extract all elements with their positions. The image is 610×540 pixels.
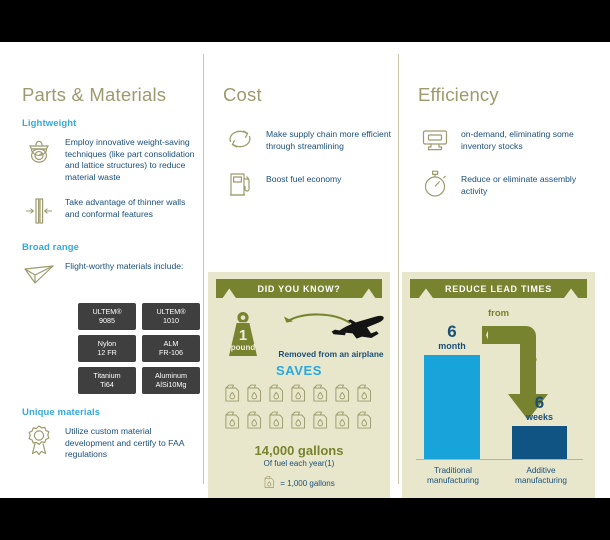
parts-materials-title: Parts & Materials [22,84,197,106]
material-chip: ULTEM® 9085 [78,303,136,330]
group-label-lightweight: Lightweight [22,118,197,129]
bar-label-traditional: Traditional manufacturing [414,466,492,487]
did-you-know-header-row: 1 pound Removed from an airplane [208,298,390,360]
curved-arrow-icon [272,310,390,346]
fuel-jug-icon [267,410,288,435]
additive-value-number: 6 [512,394,567,411]
infographic-canvas: Parts & Materials Lightweight Emp [0,42,610,498]
stopwatch-icon [418,167,452,201]
chip-line2: AlSi10Mg [143,380,199,389]
fuel-jug-icon [289,410,310,435]
saves-label: SAVES [208,363,390,378]
fuel-jug-icon [223,383,244,408]
efficiency-title: Efficiency [418,84,598,106]
fuel-jug-grid [208,383,390,435]
printer-icon [418,122,452,156]
chip-line1: Aluminum [155,371,187,380]
additive-bar-value: 6 weeks [512,394,567,423]
bullet-on-demand-text: on-demand, eliminating some inventory st… [461,122,598,152]
award-ribbon-icon [22,423,56,457]
additive-value-unit: weeks [512,412,567,423]
bar-label-additive: Additive manufacturing [502,466,580,487]
reduce-lead-times-ribbon: REDUCE LEAD TIMES [410,279,587,298]
traditional-value-number: 6 [424,323,480,340]
did-you-know-panel: DID YOU KNOW? 1 pound [208,272,390,498]
bullet-supply-chain-text: Make supply chain more efficient through… [266,122,392,152]
weight-value: 1 [218,328,268,343]
reduce-lead-times-panel: REDUCE LEAD TIMES from to 6 month 6 wee [402,272,595,498]
traditional-value-unit: month [424,341,480,352]
chip-line1: Titanium [93,371,120,380]
bullet-flight-worthy: Flight-worthy materials include: [22,258,197,292]
bullet-custom-material-text: Utilize custom material development and … [65,423,197,461]
material-chip: Titanium Ti64 [78,367,136,394]
infographic-stage: Parts & Materials Lightweight Emp [0,0,610,540]
airplane-silhouette [332,316,384,339]
fuel-jug-icon [333,383,354,408]
chip-line1: ALM [164,339,179,348]
letterbox-top [0,0,610,42]
cycle-arrows-icon [223,122,257,156]
fuel-jug-icon [311,383,332,408]
group-label-unique-materials: Unique materials [22,407,197,418]
fuel-jug-icon [245,383,266,408]
chip-line2: 1010 [143,316,199,325]
bullet-assembly-activity-text: Reduce or eliminate assembly activity [461,167,598,197]
fuel-jug-icon [355,383,376,408]
airplane-callout: Removed from an airplane [272,308,390,360]
bar-additive-manufacturing [512,426,567,459]
column-parts-materials: Parts & Materials Lightweight Emp [0,42,205,498]
bullet-on-demand: on-demand, eliminating some inventory st… [418,122,598,156]
material-chip: Nylon 12 FR [78,335,136,362]
bullet-supply-chain: Make supply chain more efficient through… [223,122,392,156]
group-label-broad-range: Broad range [22,242,197,253]
chip-line2: FR-106 [143,348,199,357]
fuel-jug-icon [289,383,310,408]
from-annotation: from [488,308,509,319]
fuel-jug-icon [245,410,266,435]
fuel-pump-icon [223,167,257,201]
material-chip-grid: ULTEM® 9085 ULTEM® 1010 Nylon 12 FR ALM … [78,303,197,394]
bullet-weight-saving-text: Employ innovative weight-saving techniqu… [65,134,197,183]
chip-line2: 9085 [79,316,135,325]
fuel-jug-icon [355,410,376,435]
bullet-custom-material: Utilize custom material development and … [22,423,197,461]
traditional-bar-value: 6 month [424,323,480,352]
material-chip: ULTEM® 1010 [142,303,200,330]
jug-legend: = 1,000 gallons [208,475,390,491]
weight-unit: pound [218,343,268,352]
material-chip: Aluminum AlSi10Mg [142,367,200,394]
bullet-thin-walls: Take advantage of thinner walls and conf… [22,194,197,228]
bullet-fuel-economy-text: Boost fuel economy [266,167,341,186]
paper-plane-icon [22,258,56,292]
gallons-total: 14,000 gallons [208,443,390,458]
gallons-subtitle: Of fuel each year(1) [208,459,390,468]
thin-wall-icon [22,194,56,228]
one-pound-weight-icon: 1 pound [218,308,268,360]
chart-baseline [416,459,583,460]
fuel-jug-icon [223,410,244,435]
jug-legend-text: = 1,000 gallons [280,479,335,488]
fuel-jug-icon [263,475,276,491]
bullet-weight-saving: Employ innovative weight-saving techniqu… [22,134,197,183]
bullet-flight-worthy-text: Flight-worthy materials include: [65,258,183,273]
removed-from-airplane-text: Removed from an airplane [272,349,390,360]
kitchen-scale-icon [22,134,56,168]
bullet-fuel-economy: Boost fuel economy [223,167,392,201]
chip-line1: ULTEM® [156,307,185,316]
fuel-jug-icon [311,410,332,435]
fuel-jug-icon [267,383,288,408]
bullet-thin-walls-text: Take advantage of thinner walls and conf… [65,194,197,220]
letterbox-bottom [0,498,610,540]
chip-line2: Ti64 [79,380,135,389]
chip-line1: ULTEM® [92,307,121,316]
did-you-know-ribbon: DID YOU KNOW? [216,279,382,298]
fuel-jug-icon [333,410,354,435]
cost-title: Cost [223,84,392,106]
material-chip: ALM FR-106 [142,335,200,362]
bullet-assembly-activity: Reduce or eliminate assembly activity [418,167,598,201]
chip-line2: 12 FR [79,348,135,357]
bar-traditional-manufacturing [424,355,480,459]
chip-line1: Nylon [98,339,116,348]
lead-time-bar-chart: from to 6 month 6 weeks [402,298,595,498]
